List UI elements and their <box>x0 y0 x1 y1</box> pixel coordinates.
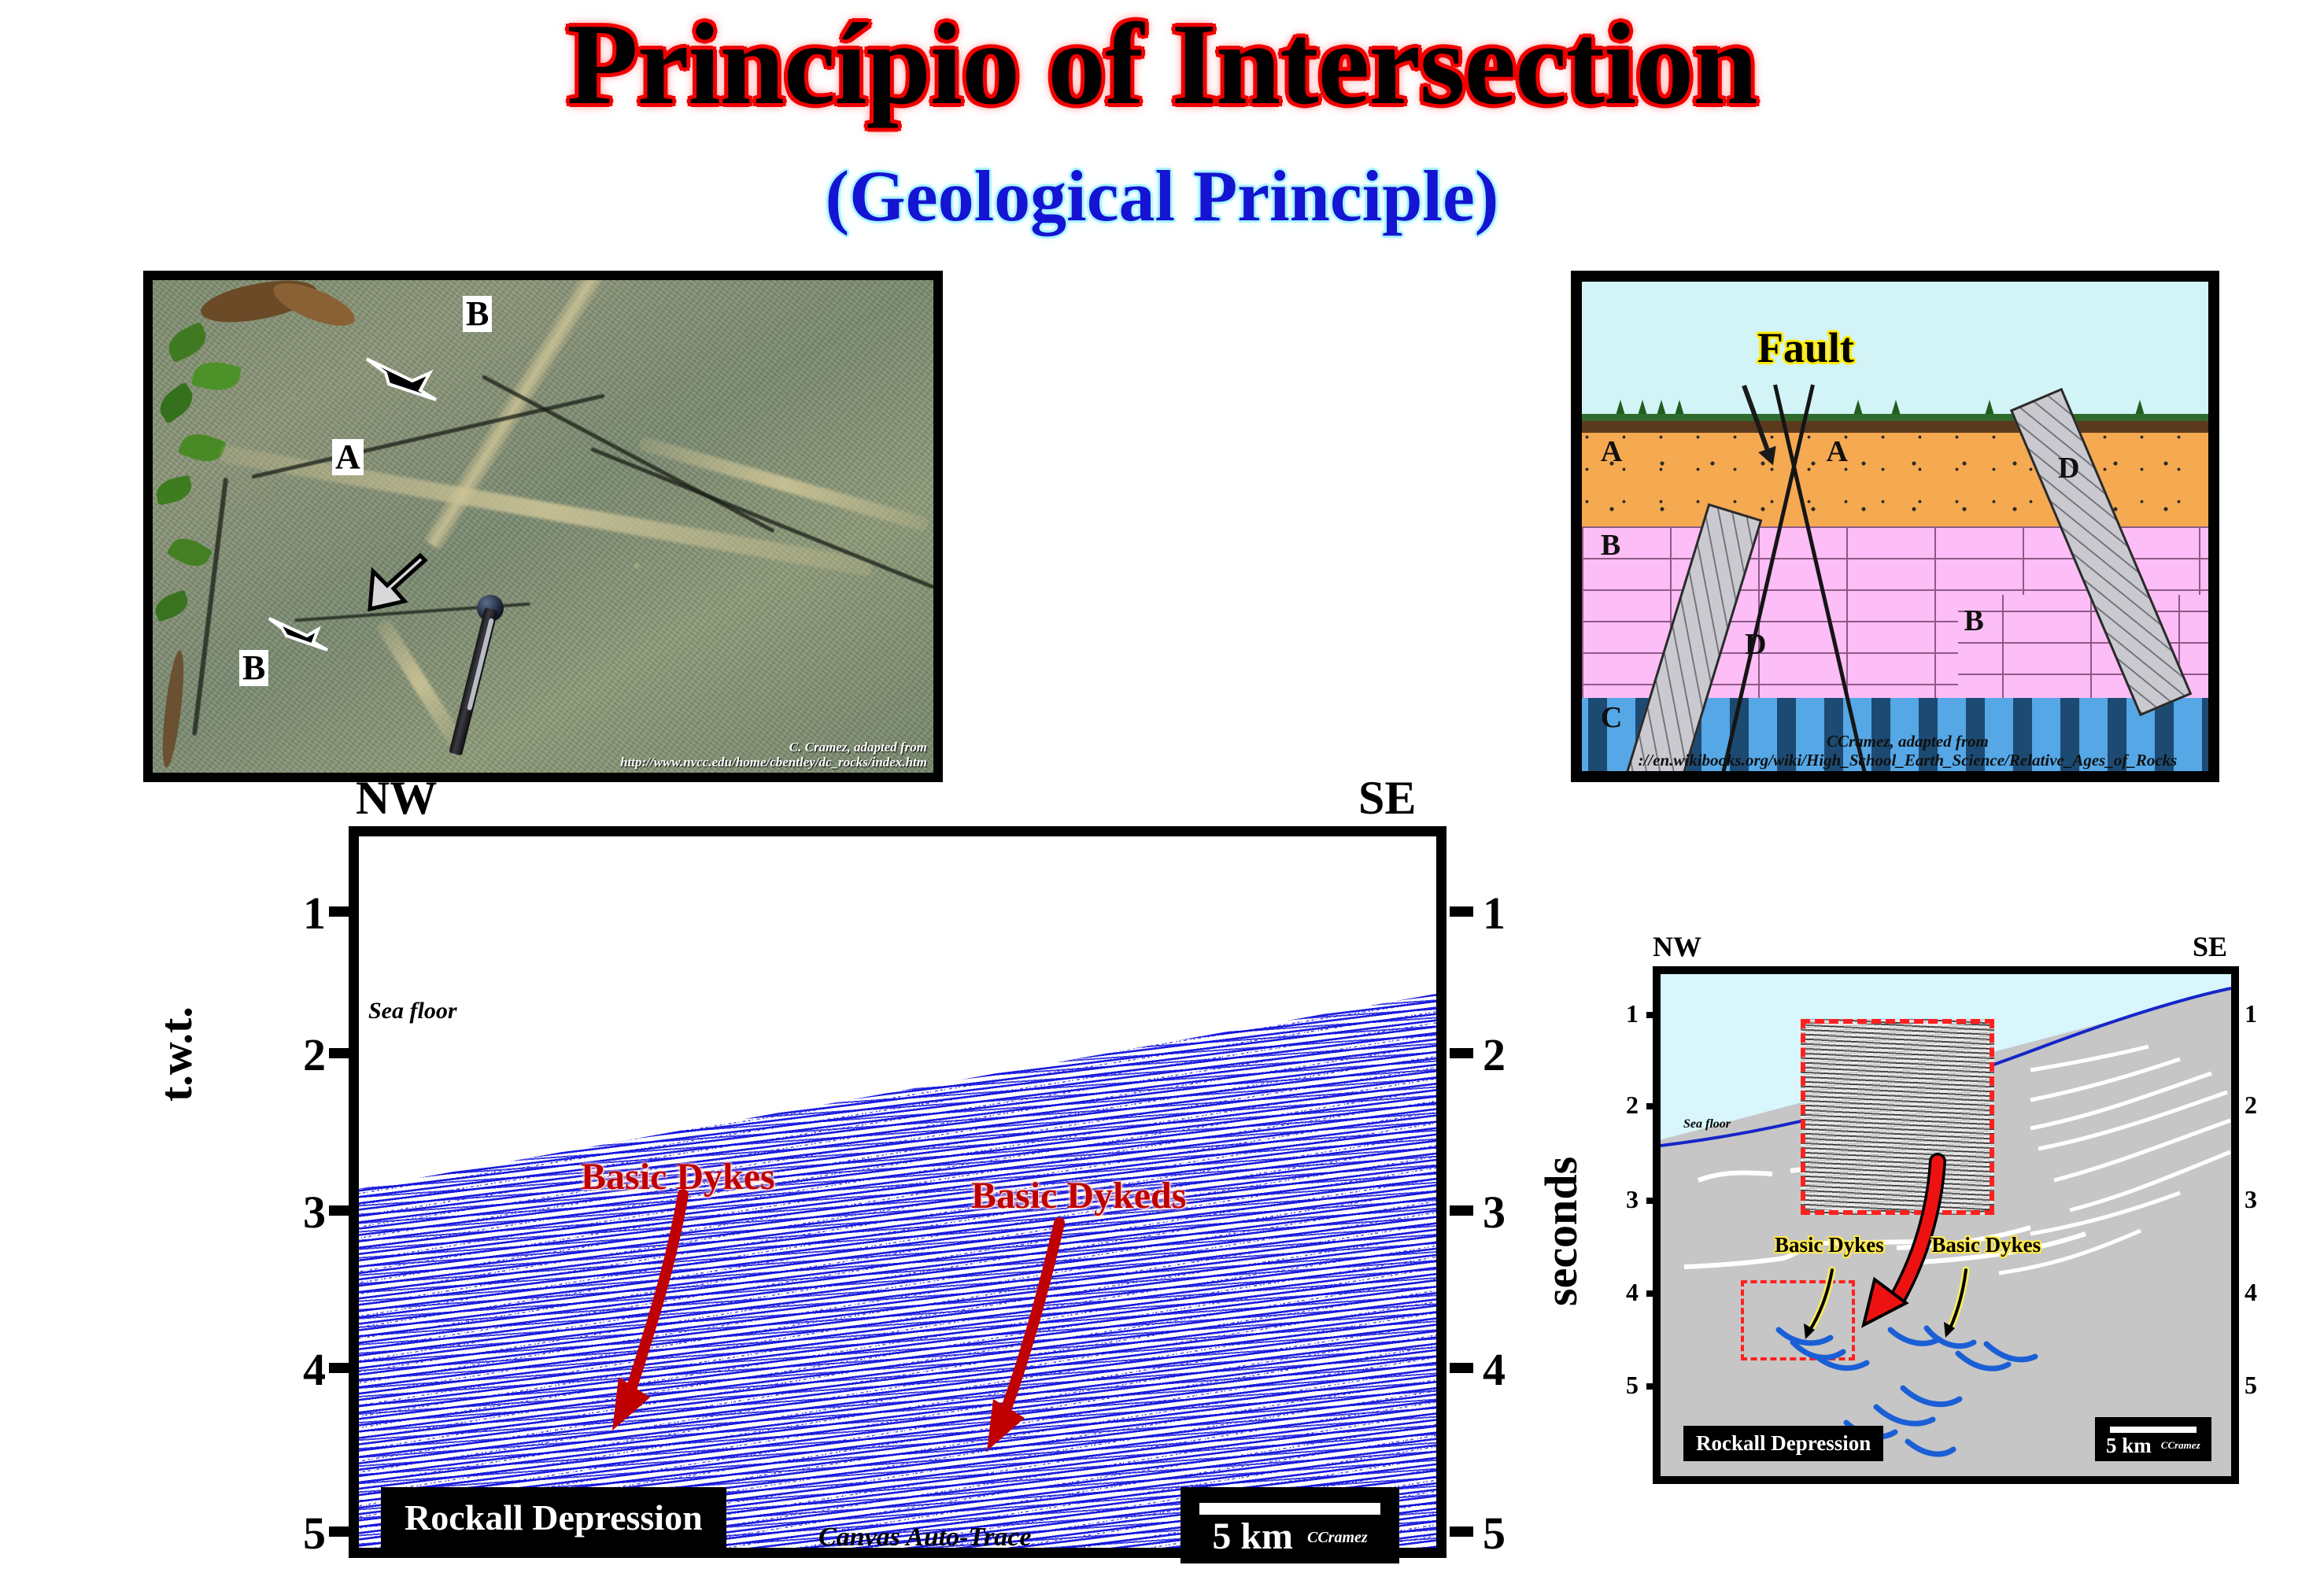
seismic-footer-note: Canvas Auto-Trace <box>818 1523 1031 1552</box>
page-title: Princípio of Intersection <box>0 6 2324 123</box>
interp-scale-credit: CCramez <box>2161 1439 2200 1452</box>
interp-ytick-right-5: 5 <box>2245 1372 2257 1397</box>
interp-ytick-right-2: 2 <box>2245 1092 2257 1117</box>
seismic-dyke-arrow-left-icon <box>582 1180 818 1440</box>
geologic-cross-section-panel: Fault A A B B C D D CCramez, adapted fro… <box>1571 271 2219 782</box>
seismic-ytick-3: 3 <box>303 1190 326 1235</box>
seismic-seafloor-label: Sea floor <box>368 998 457 1024</box>
interp-location-box: Rockall Depression <box>1683 1426 1883 1461</box>
unit-a-right-label: A <box>1826 437 1847 467</box>
fault-label: Fault <box>1757 323 1854 372</box>
interp-ytick-5: 5 <box>1626 1372 1639 1397</box>
seismic-tick-mark <box>1450 1048 1473 1058</box>
interp-ytick-2: 2 <box>1626 1092 1639 1117</box>
seismic-scale-credit: CCramez <box>1307 1529 1368 1547</box>
seismic-dyke-label-right: Basic Dykeds <box>971 1174 1186 1217</box>
outcrop-photo-panel: B A B C. Cramez, adapted from http://www… <box>143 271 943 782</box>
interp-orientation-se: SE <box>2193 930 2227 963</box>
seismic-ytick-right-3: 3 <box>1483 1190 1506 1235</box>
arrow-b-lower-icon <box>269 618 327 650</box>
geo-credit-line1: CCramez, adapted from <box>1607 732 2208 751</box>
outcrop-photo: B A B C. Cramez, adapted from http://www… <box>153 280 933 773</box>
seismic-frame <box>349 826 1446 1558</box>
photo-credit-line1: C. Cramez, adapted from <box>789 740 927 755</box>
unit-a-left-label: A <box>1601 437 1622 467</box>
photo-label-a: A <box>332 439 364 475</box>
interp-ytick-right-3: 3 <box>2245 1187 2257 1212</box>
interp-orientation-nw: NW <box>1653 930 1701 963</box>
interp-leader-lines <box>1661 974 2231 1476</box>
geologic-cross-section: Fault A A B B C D D CCramez, adapted fro… <box>1582 282 2208 771</box>
seismic-location-box: Rockall Depression <box>381 1487 726 1549</box>
interp-ytick-3: 3 <box>1626 1187 1639 1212</box>
interp-ytick-4: 4 <box>1626 1279 1639 1305</box>
interp-ytick-right-4: 4 <box>2245 1279 2257 1305</box>
seismic-tick-mark <box>1450 1363 1473 1373</box>
seismic-ytick-5: 5 <box>303 1511 326 1556</box>
unit-b-left-label: B <box>1601 530 1620 560</box>
seismic-ytick-right-5: 5 <box>1483 1511 1506 1556</box>
seismic-scale-box: 5 km CCramez <box>1180 1487 1399 1563</box>
seismic-tick-mark <box>1450 906 1473 917</box>
seismic-ytick-right-4: 4 <box>1483 1347 1506 1393</box>
seismic-scale-value: 5 km <box>1212 1518 1293 1556</box>
photo-credit: C. Cramez, adapted from http://www.nvcc.… <box>620 740 927 770</box>
seismic-orientation-nw: NW <box>356 771 437 825</box>
unit-c-label: C <box>1601 703 1622 733</box>
seismic-axis-left-label: t.w.t. <box>150 1006 202 1102</box>
unit-b-right-label: B <box>1964 606 1984 636</box>
dike-d-right-label: D <box>2058 453 2079 483</box>
photo-credit-line2: http://www.nvcc.edu/home/cbentley/dc_roc… <box>620 755 927 770</box>
seismic-ytick-right-2: 2 <box>1483 1032 1506 1078</box>
seismic-ytick-right-1: 1 <box>1483 891 1506 936</box>
geo-diagram-credit: CCramez, adapted from ://en.wikibooks.or… <box>1607 732 2208 770</box>
arrow-a-icon <box>370 556 425 609</box>
interp-dyke-label-right: Basic Dykes <box>1931 1233 2041 1257</box>
dike-d-left-label: D <box>1745 629 1766 659</box>
seismic-tick-mark <box>1450 1526 1473 1537</box>
interp-dyke-label-left: Basic Dykes <box>1775 1233 1884 1257</box>
seismic-ytick-1: 1 <box>303 891 326 936</box>
photo-label-b-bottom: B <box>239 650 268 686</box>
photo-label-b-top: B <box>463 296 492 332</box>
geo-credit-line2: ://en.wikibooks.org/wiki/High_School_Ear… <box>1638 751 2177 770</box>
interpretation-panel: Sea floor <box>1653 966 2239 1509</box>
page-subtitle: (Geological Principle) <box>0 154 2324 238</box>
seismic-orientation-se: SE <box>1358 771 1416 825</box>
arrow-b-upper-icon <box>367 359 436 400</box>
tree-line <box>1582 282 2208 423</box>
interpretation-frame: Sea floor <box>1653 966 2239 1484</box>
seismic-scale-bar <box>1199 1503 1380 1515</box>
interp-scale-box: 5 km CCramez <box>2095 1417 2211 1461</box>
photo-arrows <box>153 280 933 773</box>
seismic-section <box>349 826 1446 1558</box>
seismic-ytick-4: 4 <box>303 1347 326 1393</box>
seismic-dyke-arrow-right-icon <box>960 1212 1196 1471</box>
seismic-ytick-2: 2 <box>303 1032 326 1078</box>
interp-scale-value: 5 km <box>2106 1435 2152 1456</box>
seismic-tick-mark <box>1450 1205 1473 1216</box>
interp-ytick-1: 1 <box>1626 1001 1639 1026</box>
interp-scale-bar <box>2110 1427 2197 1433</box>
interp-ytick-right-1: 1 <box>2245 1001 2257 1026</box>
seismic-axis-right-label: seconds <box>1535 1157 1587 1306</box>
